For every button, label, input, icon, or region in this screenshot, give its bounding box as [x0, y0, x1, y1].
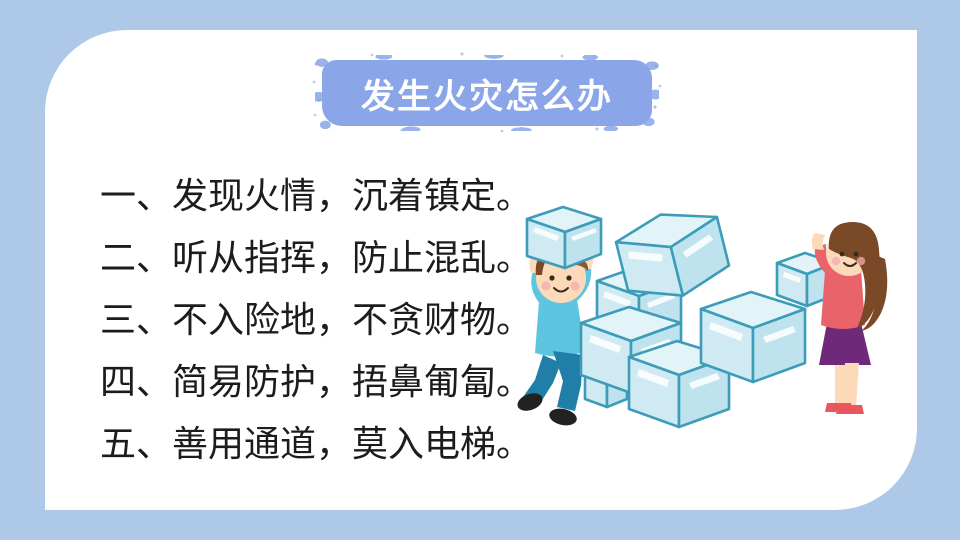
list-item: 二、听从指挥，防止混乱。	[100, 228, 520, 290]
list-item: 四、简易防护，捂鼻匍匐。	[100, 352, 520, 414]
ice-cube-held-by-boy	[527, 207, 601, 268]
ice-cube-pile	[581, 205, 835, 427]
ice-cubes-illustration: .ice { fill:#cfeaf2; stroke:#3d9cb8; str…	[505, 205, 905, 440]
list-item: 五、善用通道，莫入电梯。	[100, 414, 520, 476]
girl-figure	[812, 222, 887, 414]
title-banner: 发生火灾怎么办	[322, 60, 652, 126]
ice-cube-right-large	[701, 292, 805, 382]
list-item: 一、发现火情，沉着镇定。	[100, 166, 520, 228]
slide-canvas: 发生火灾怎么办 一、发现火情，沉着镇定。 二、听从指挥，防止混乱。 三、不入险地…	[0, 0, 960, 540]
rules-list: 一、发现火情，沉着镇定。 二、听从指挥，防止混乱。 三、不入险地，不贪财物。 四…	[100, 166, 520, 476]
list-item: 三、不入险地，不贪财物。	[100, 290, 520, 352]
page-title: 发生火灾怎么办	[322, 60, 652, 126]
